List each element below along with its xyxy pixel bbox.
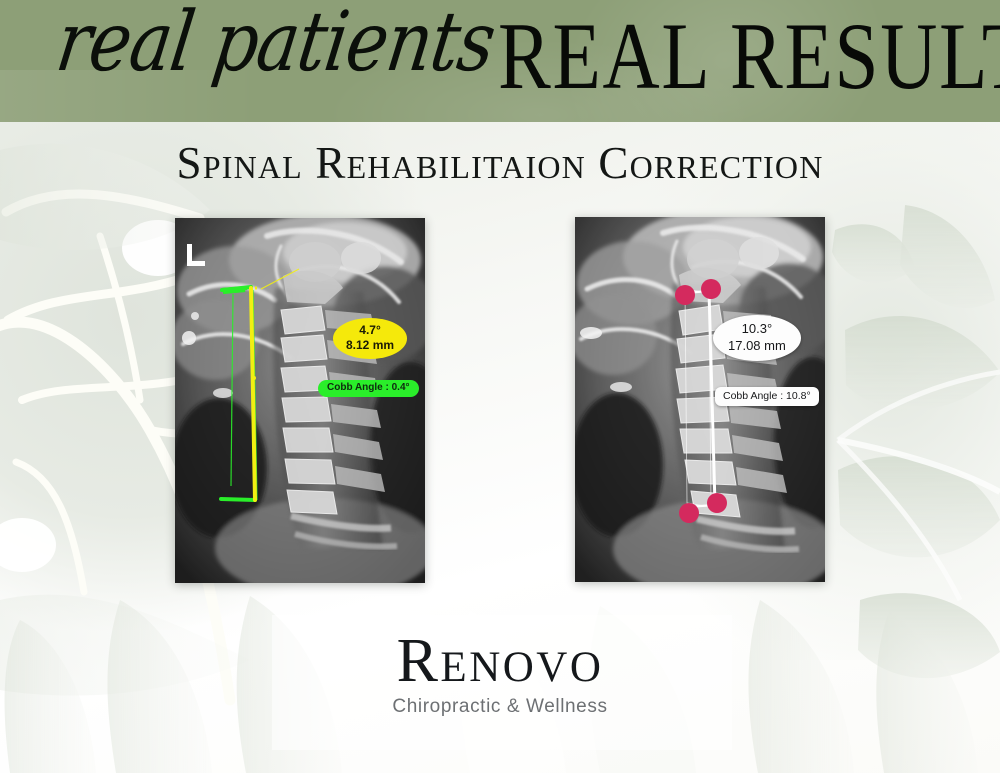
header-script-text: real patients bbox=[52, 0, 499, 83]
cobb-angle-value: Cobb Angle : 0.4° bbox=[327, 382, 410, 395]
xray-image-before bbox=[175, 218, 425, 583]
brand-logo: Renovo Chiropractic & Wellness bbox=[0, 630, 1000, 718]
header-caps-text: REAL RESULTS bbox=[498, 8, 1000, 104]
logo-tagline: Chiropractic & Wellness bbox=[0, 696, 1000, 718]
poster-canvas: real patients REAL RESULTS Spinal Rehabi… bbox=[0, 0, 1000, 773]
badge-distance-value: 17.08 mm bbox=[728, 338, 786, 355]
cobb-angle-value: Cobb Angle : 10.8° bbox=[723, 390, 811, 403]
xray-panel-before[interactable]: 4.7° 8.12 mm Cobb Angle : 0.4° bbox=[175, 218, 425, 583]
badge-angle-value: 10.3° bbox=[742, 321, 773, 338]
xray-panel-after[interactable]: 10.3° 17.08 mm Cobb Angle : 10.8° bbox=[575, 217, 825, 582]
badge-measure-after: 10.3° 17.08 mm bbox=[713, 315, 801, 361]
badge-distance-value: 8.12 mm bbox=[346, 338, 394, 353]
badge-cobb-after: Cobb Angle : 10.8° bbox=[715, 387, 819, 406]
page-title: Spinal Rehabilitaion Correction bbox=[0, 137, 1000, 189]
badge-angle-value: 4.7° bbox=[359, 323, 380, 338]
badge-cobb-before: Cobb Angle : 0.4° bbox=[318, 380, 419, 397]
badge-measure-before: 4.7° 8.12 mm bbox=[333, 318, 407, 359]
logo-name: Renovo bbox=[0, 630, 1000, 692]
